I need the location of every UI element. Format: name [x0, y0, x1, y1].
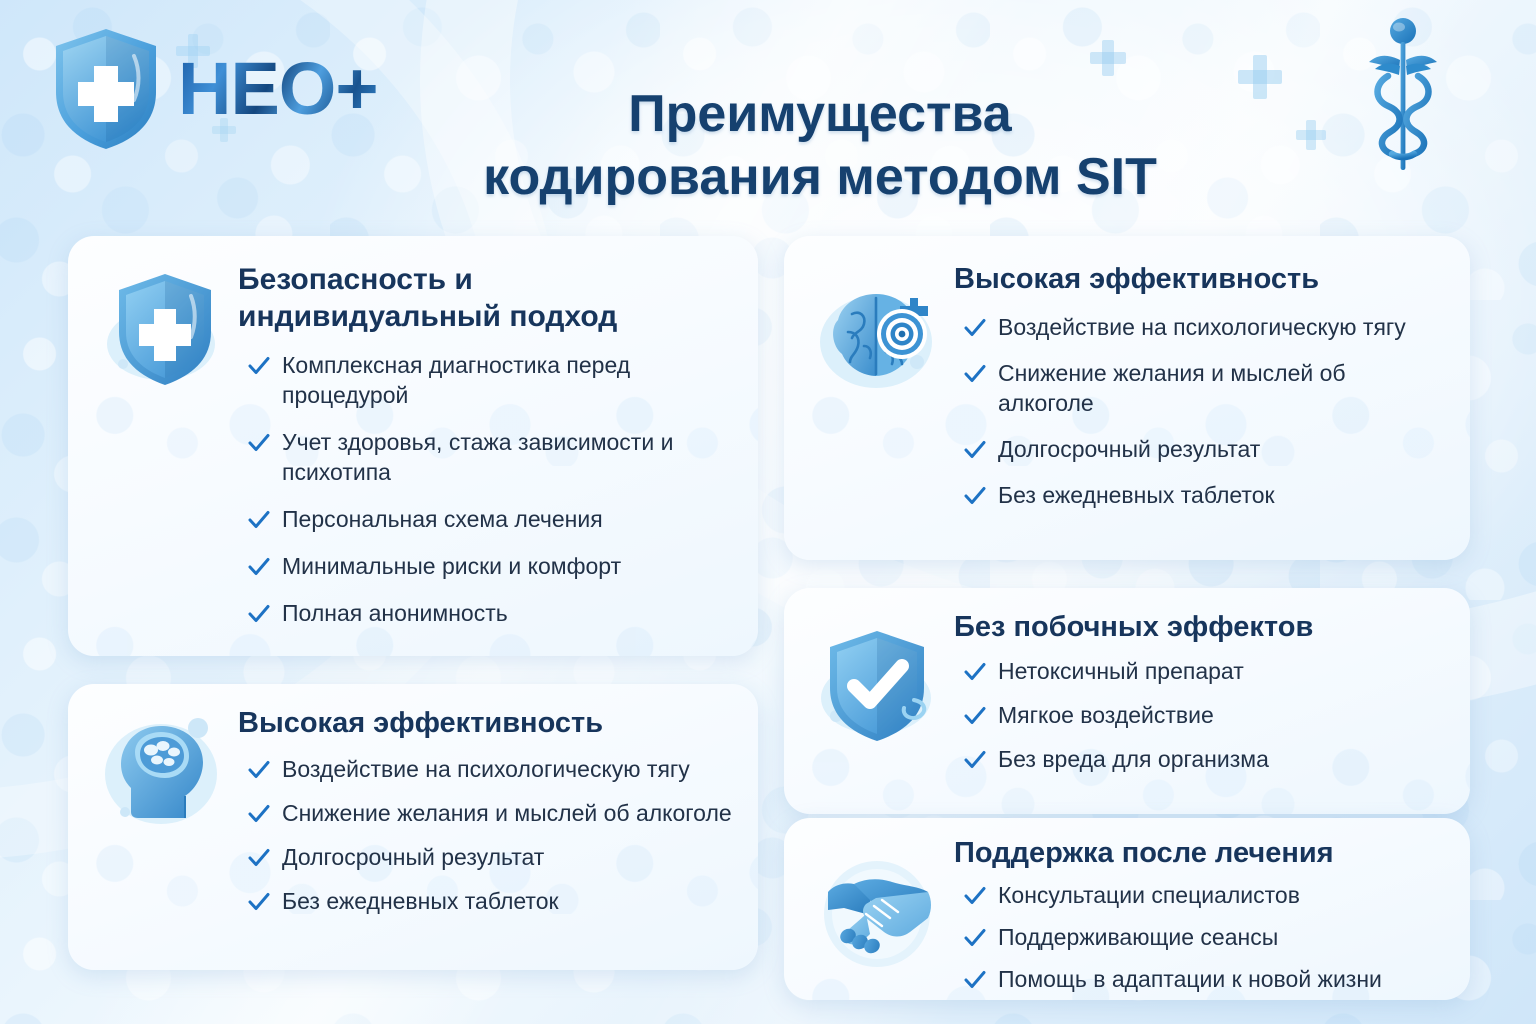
- list-item-label: Без ежедневных таблеток: [998, 481, 1275, 511]
- brand-name: НЕО+: [178, 52, 384, 126]
- card-body: Безопасность и индивидуальный подход Ком…: [238, 262, 732, 634]
- card-title: Поддержка после лечения: [954, 836, 1446, 871]
- list-item: Нетоксичный препарат: [964, 657, 1446, 687]
- list-item-label: Минимальные риски и комфорт: [282, 552, 621, 582]
- page-title-line2: кодирования методом SIT: [483, 148, 1157, 206]
- list-item-label: Полная анонимность: [282, 599, 508, 629]
- card-aftercare-support[interactable]: Поддержка после лечения Консультации спе…: [784, 818, 1470, 1000]
- list-item: Комплексная диагностика перед процедурой: [248, 351, 732, 411]
- check-icon: [248, 845, 270, 871]
- list-item: Снижение желания и мыслей об алкоголе: [964, 359, 1446, 419]
- caduceus-icon: [1366, 14, 1440, 178]
- check-icon: [248, 889, 270, 915]
- card-safety[interactable]: Безопасность и индивидуальный подход Ком…: [68, 236, 758, 656]
- list-item: Воздействие на психологическую тягу: [964, 313, 1446, 343]
- benefit-list: Воздействие на психологическую тягу Сниж…: [238, 755, 732, 917]
- card-body: Высокая эффективность Воздействие на пси…: [954, 262, 1446, 540]
- list-item-label: Воздействие на психологическую тягу: [998, 313, 1406, 343]
- card-title: Без побочных эффектов: [954, 610, 1446, 645]
- list-item: Полная анонимность: [248, 599, 732, 629]
- card-icon-wrap: [804, 610, 954, 796]
- list-item-label: Помощь в адаптации к новой жизни: [998, 965, 1382, 995]
- list-item-label: Долгосрочный результат: [282, 843, 544, 873]
- list-item-label: Консультации специалистов: [998, 881, 1300, 911]
- list-item-label: Персональная схема лечения: [282, 505, 603, 535]
- check-icon: [964, 703, 986, 729]
- handshake-icon: [814, 852, 944, 978]
- check-icon: [248, 757, 270, 783]
- check-icon: [248, 430, 270, 456]
- list-item: Снижение желания и мыслей об алкоголе: [248, 799, 732, 829]
- card-high-efficiency-right[interactable]: Высокая эффективность Воздействие на пси…: [784, 236, 1470, 560]
- shield-check-icon: [814, 624, 944, 750]
- check-icon: [964, 659, 986, 685]
- list-item: Долгосрочный результат: [964, 435, 1446, 465]
- list-item: Воздействие на психологическую тягу: [248, 755, 732, 785]
- check-icon: [248, 353, 270, 379]
- check-icon: [964, 925, 986, 951]
- list-item: Без вреда для организма: [964, 745, 1446, 775]
- check-icon: [964, 747, 986, 773]
- shield-cross-icon: [99, 268, 229, 394]
- list-item: Учет здоровья, стажа зависимости и психо…: [248, 428, 732, 488]
- list-item: Долгосрочный результат: [248, 843, 732, 873]
- card-no-side-effects[interactable]: Без побочных эффектов Нетоксичный препар…: [784, 588, 1470, 814]
- shield-cross-icon: [48, 26, 164, 152]
- card-icon-wrap: [90, 262, 238, 634]
- list-item-label: Без ежедневных таблеток: [282, 887, 559, 917]
- benefit-list: Консультации специалистов Поддерживающие…: [954, 881, 1446, 995]
- list-item: Минимальные риски и комфорт: [248, 552, 732, 582]
- card-high-efficiency-left[interactable]: Высокая эффективность Воздействие на пси…: [68, 684, 758, 970]
- list-item: Персональная схема лечения: [248, 505, 732, 535]
- check-icon: [964, 967, 986, 993]
- page-title: Преимущества кодирования методом SIT: [380, 83, 1260, 210]
- check-icon: [248, 554, 270, 580]
- card-icon-wrap: [804, 262, 954, 540]
- list-item-label: Снижение желания и мыслей об алкоголе: [282, 799, 732, 829]
- brand-logo: НЕО+: [48, 26, 384, 152]
- brain-target-icon: [814, 276, 944, 402]
- card-title: Высокая эффективность: [238, 706, 732, 741]
- check-icon: [964, 437, 986, 463]
- card-body: Поддержка после лечения Консультации спе…: [954, 836, 1446, 986]
- list-item-label: Мягкое воздействие: [998, 701, 1214, 731]
- card-icon-wrap: [804, 836, 954, 986]
- check-icon: [964, 315, 986, 341]
- check-icon: [964, 361, 986, 387]
- card-body: Высокая эффективность Воздействие на пси…: [238, 706, 732, 950]
- check-icon: [248, 507, 270, 533]
- check-icon: [248, 801, 270, 827]
- poster-header: НЕО+ Преимущества кодирования методом SI…: [0, 0, 1536, 210]
- infographic-poster: НЕО+ Преимущества кодирования методом SI…: [0, 0, 1536, 1024]
- list-item: Консультации специалистов: [964, 881, 1446, 911]
- list-item: Помощь в адаптации к новой жизни: [964, 965, 1446, 995]
- head-brain-icon: [99, 710, 229, 836]
- list-item-label: Нетоксичный препарат: [998, 657, 1244, 687]
- check-icon: [964, 883, 986, 909]
- card-title: Безопасность и индивидуальный подход: [238, 262, 732, 335]
- check-icon: [248, 601, 270, 627]
- benefit-list: Комплексная диагностика перед процедурой…: [238, 351, 732, 628]
- list-item-label: Долгосрочный результат: [998, 435, 1260, 465]
- list-item-label: Комплексная диагностика перед процедурой: [282, 351, 732, 411]
- list-item-label: Воздействие на психологическую тягу: [282, 755, 690, 785]
- list-item: Мягкое воздействие: [964, 701, 1446, 731]
- list-item-label: Снижение желания и мыслей об алкоголе: [998, 359, 1446, 419]
- card-title: Высокая эффективность: [954, 262, 1446, 297]
- card-body: Без побочных эффектов Нетоксичный препар…: [954, 610, 1446, 796]
- benefit-list: Нетоксичный препарат Мягкое воздействие …: [954, 657, 1446, 775]
- page-title-line1: Преимущества: [628, 85, 1011, 143]
- list-item: Без ежедневных таблеток: [248, 887, 732, 917]
- check-icon: [964, 483, 986, 509]
- list-item-label: Учет здоровья, стажа зависимости и психо…: [282, 428, 732, 488]
- list-item-label: Поддерживающие сеансы: [998, 923, 1278, 953]
- benefit-list: Воздействие на психологическую тягу Сниж…: [954, 313, 1446, 510]
- card-icon-wrap: [90, 706, 238, 950]
- list-item: Без ежедневных таблеток: [964, 481, 1446, 511]
- list-item-label: Без вреда для организма: [998, 745, 1269, 775]
- list-item: Поддерживающие сеансы: [964, 923, 1446, 953]
